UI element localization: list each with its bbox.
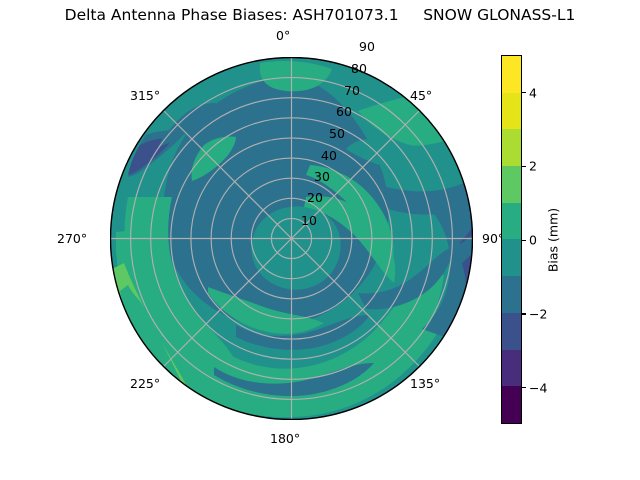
polar-contour-plot xyxy=(110,57,473,420)
colorbar-band-5 xyxy=(502,239,521,276)
radial-tick-80: 80 xyxy=(351,61,367,76)
radial-tick-20: 20 xyxy=(307,190,323,205)
angular-tick-315: 315° xyxy=(130,88,160,103)
colorbar-tick-label-0: 0 xyxy=(529,233,537,248)
page-title: Delta Antenna Phase Biases: ASH701073.1 … xyxy=(0,6,640,24)
colorbar-band-9 xyxy=(502,386,521,423)
radial-tick-50: 50 xyxy=(329,126,345,141)
colorbar-band-8 xyxy=(502,350,521,387)
figure-canvas: Delta Antenna Phase Biases: ASH701073.1 … xyxy=(0,0,640,480)
radial-tick-30: 30 xyxy=(314,169,330,184)
colorbar-tick-mark-0 xyxy=(522,240,526,241)
colorbar-axis-label: Bias (mm) xyxy=(546,208,561,272)
colorbar-tick-mark-m4 xyxy=(522,387,526,388)
colorbar-band-2 xyxy=(502,129,521,166)
colorbar-tick-label-m2: −2 xyxy=(529,306,547,321)
angular-tick-0: 0° xyxy=(276,28,290,43)
angular-tick-270: 270° xyxy=(57,231,87,246)
colorbar-tick-label-m4: −4 xyxy=(529,380,547,395)
colorbar-tick-mark-2 xyxy=(522,166,526,167)
colorbar-gradient xyxy=(501,55,522,424)
colorbar-band-7 xyxy=(502,313,521,350)
colorbar-band-1 xyxy=(502,93,521,130)
colorbar-band-4 xyxy=(502,203,521,240)
colorbar-tick-mark-4 xyxy=(522,92,526,93)
angular-tick-45: 45° xyxy=(410,88,432,103)
angular-tick-135: 135° xyxy=(410,376,440,391)
radial-tick-40: 40 xyxy=(321,148,337,163)
radial-tick-70: 70 xyxy=(344,83,360,98)
colorbar-band-3 xyxy=(502,166,521,203)
radial-tick-90: 90 xyxy=(359,39,375,54)
angular-tick-180: 180° xyxy=(270,431,300,446)
polar-axes: 0° 45° 90° 135° 180° 225° 270° 315° 10 2… xyxy=(110,57,473,420)
colorbar-tick-label-2: 2 xyxy=(529,159,537,174)
colorbar-tick-mark-m2 xyxy=(522,313,526,314)
polar-grid-spokes xyxy=(111,58,473,420)
colorbar-band-6 xyxy=(502,276,521,313)
radial-tick-60: 60 xyxy=(336,104,352,119)
colorbar: 4 2 0 −2 −4 xyxy=(501,55,522,424)
colorbar-band-0 xyxy=(502,56,521,93)
colorbar-tick-label-4: 4 xyxy=(529,85,537,100)
angular-tick-225: 225° xyxy=(130,376,160,391)
radial-tick-10: 10 xyxy=(301,213,317,228)
